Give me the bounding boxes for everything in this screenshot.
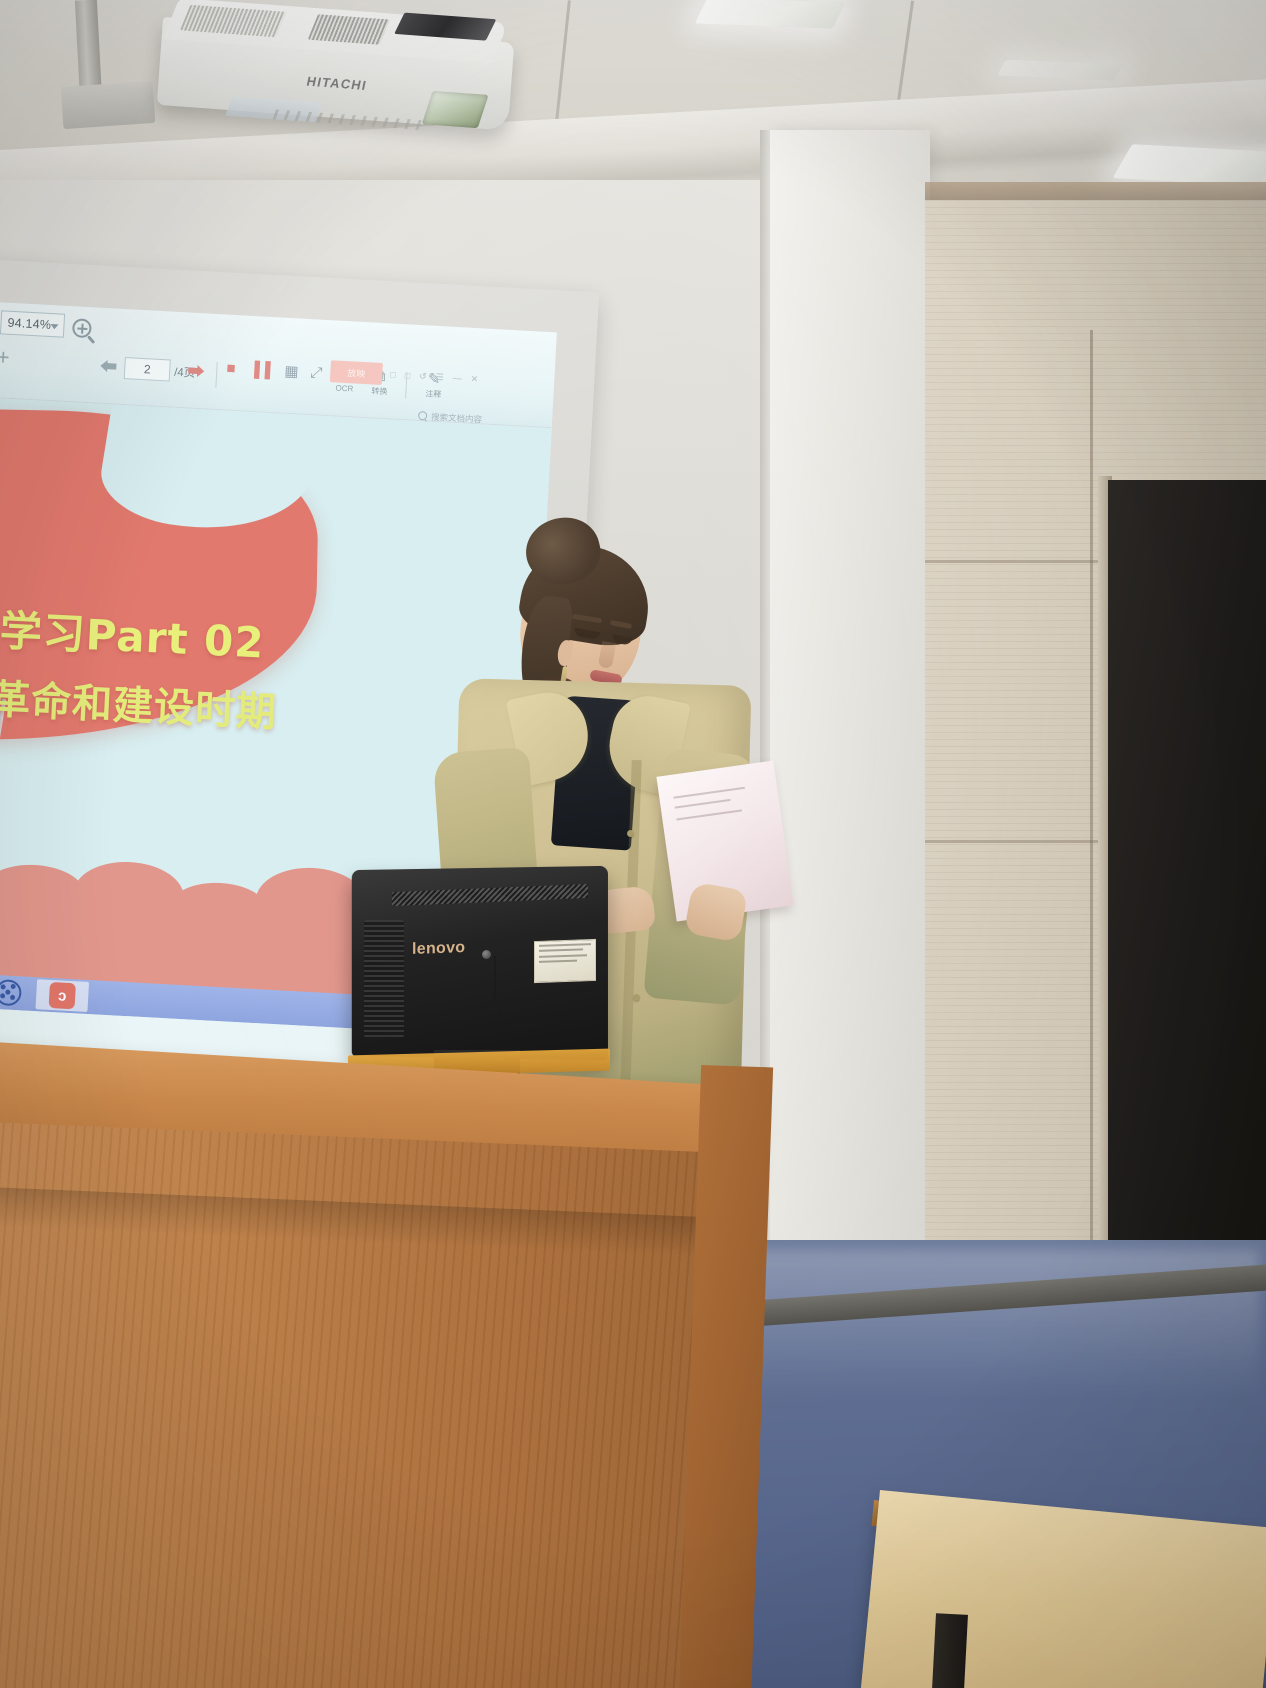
monitor-asset-sticker xyxy=(534,939,596,983)
window-control-glyph[interactable]: ☰ xyxy=(435,371,444,382)
chevron-down-icon[interactable] xyxy=(50,324,58,329)
page-number-value: 2 xyxy=(144,362,151,376)
wps-app-icon: ɔ xyxy=(49,982,76,1009)
zoom-level-field[interactable]: 94.14% xyxy=(0,310,65,337)
taskbar-media-icon[interactable] xyxy=(0,976,35,1009)
tool-label: 注释 xyxy=(425,388,442,400)
tool-glyph: ⤢ xyxy=(310,365,323,381)
search-icon xyxy=(418,411,427,420)
projector-mount-bracket xyxy=(61,81,156,129)
monitor-side-grill xyxy=(364,920,404,1038)
tool-glyph: ▦ xyxy=(284,364,299,380)
wps-icon-label: ɔ xyxy=(58,987,67,1004)
toolbar-divider xyxy=(215,362,217,388)
arrow-left-icon[interactable] xyxy=(98,358,119,377)
window-control-glyph[interactable]: □ xyxy=(390,369,396,379)
tool-label: 转换 xyxy=(371,385,388,397)
window-control-glyph[interactable]: ↺ xyxy=(419,371,427,382)
page-number-input[interactable]: 2 xyxy=(124,357,171,381)
dual-page-icon[interactable]: ▌▌ xyxy=(254,362,276,380)
jacket-button xyxy=(633,994,640,1001)
wood-panel-seam xyxy=(1090,330,1093,1360)
monitor-brand-label: lenovo xyxy=(412,939,465,959)
tool-glyph: ■ xyxy=(226,361,236,376)
hand-right xyxy=(684,882,748,943)
classroom-photo-scene: HITACHI 94.14% xyxy=(0,0,1266,1688)
fit-screen-icon[interactable]: ⤢ xyxy=(310,365,323,383)
table-leg xyxy=(932,1613,968,1688)
window-controls[interactable]: □ □ ↺ ☰ — ✕ xyxy=(390,367,521,388)
wall-pillar xyxy=(770,130,930,1360)
page-tool-icon[interactable]: ■ xyxy=(226,361,236,378)
zoom-in-icon[interactable] xyxy=(68,314,95,341)
tool-glyph: ▌▌ xyxy=(254,362,276,378)
window-control-glyph[interactable]: — xyxy=(452,373,462,383)
doorway[interactable] xyxy=(1108,480,1266,1360)
jacket-button xyxy=(627,830,634,837)
zoom-level-value: 94.14% xyxy=(7,316,51,332)
taskbar-wps-icon[interactable]: ɔ xyxy=(35,979,89,1012)
projector-lens xyxy=(422,91,489,128)
arrow-right-icon[interactable] xyxy=(186,362,207,381)
film-reel-icon xyxy=(0,979,22,1006)
add-tab-icon[interactable]: + xyxy=(0,346,10,369)
desktop-monitor: lenovo xyxy=(348,868,610,1080)
thumbnail-icon[interactable]: ▦ xyxy=(284,364,299,382)
tool-label: OCR xyxy=(335,384,353,394)
projector-vent xyxy=(308,14,390,45)
tab-presentation[interactable]: 放映 xyxy=(330,360,383,385)
window-control-glyph[interactable]: ✕ xyxy=(470,373,478,384)
monitor-screw xyxy=(482,950,491,959)
ceiling-light xyxy=(695,0,845,28)
window-control-glyph[interactable]: □ xyxy=(404,370,410,380)
